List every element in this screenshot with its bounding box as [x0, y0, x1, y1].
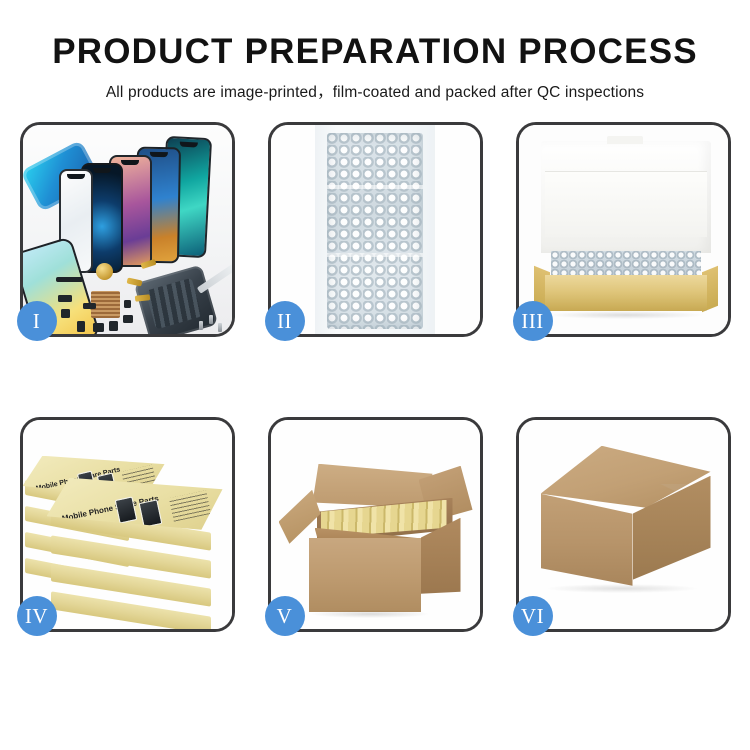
page-title: PRODUCT PREPARATION PROCESS [0, 34, 750, 71]
small-part-icon [77, 321, 85, 332]
carton-flap-left-icon [279, 490, 321, 544]
box-spec-lines [168, 490, 210, 521]
white-box-scene [519, 125, 728, 334]
step-panel-3: III [516, 122, 731, 337]
flex-cable-icon [134, 294, 150, 302]
flex-cable-icon [126, 277, 142, 286]
step-badge-6: VI [513, 596, 553, 636]
small-part-icon [123, 315, 133, 323]
screw-icon [218, 323, 222, 332]
step-panel-5: V [268, 417, 483, 632]
small-part-icon [124, 300, 131, 308]
process-steps-grid: I II II [19, 122, 731, 632]
step-5-image [271, 420, 480, 629]
small-part-icon [61, 309, 70, 318]
carton-shadow [547, 584, 697, 593]
phone-parts-scene [23, 125, 232, 334]
small-part-icon [93, 323, 104, 332]
notch-icon [149, 152, 167, 157]
step-panel-4: Mobile Phone Spare Parts Mobile Phone Sp… [20, 417, 235, 632]
page-subtitle: All products are image-printed，film-coat… [0, 80, 750, 102]
notch-icon [179, 141, 197, 147]
wrap-seam [327, 185, 423, 189]
notch-icon [93, 168, 111, 173]
notch-icon [67, 174, 85, 179]
step-panel-1: I [20, 122, 235, 337]
vibration-motor-icon [96, 263, 113, 280]
notch-icon [121, 160, 139, 165]
stacked-boxes-scene: Mobile Phone Spare Parts Mobile Phone Sp… [23, 420, 232, 629]
carton-flap-back-icon [313, 464, 433, 508]
screw-icon [209, 315, 213, 324]
page-header: PRODUCT PREPARATION PROCESS All products… [0, 0, 750, 102]
step-6-image [519, 420, 728, 629]
step-panel-6: VI [516, 417, 731, 632]
step-4-image: Mobile Phone Spare Parts Mobile Phone Sp… [23, 420, 232, 629]
step-badge-3: III [513, 301, 553, 341]
box-base-front [545, 275, 707, 311]
lid-fold-icon [545, 171, 707, 237]
bubble-wrap-scene [271, 125, 480, 334]
step-3-image [519, 125, 728, 334]
bubble-wrap-contents-icon [551, 251, 701, 277]
earpiece-speaker-icon [56, 277, 83, 282]
carton-hand-slot-icon [591, 592, 609, 608]
carton-front-panel [309, 538, 421, 612]
screw-icon [199, 321, 203, 330]
box-thumbnail-icon [138, 499, 162, 527]
small-part-icon [83, 303, 96, 309]
small-part-icon [58, 295, 72, 302]
small-part-icon [109, 321, 118, 331]
step-badge-1: I [17, 301, 57, 341]
wrap-seam [327, 253, 423, 257]
step-2-image [271, 125, 480, 334]
bubble-wrap-icon [327, 133, 423, 329]
step-badge-5: V [265, 596, 305, 636]
box-shadow [549, 311, 703, 319]
carton-shadow [311, 610, 429, 618]
step-panel-2: II [268, 122, 483, 337]
sealed-carton-scene [519, 420, 728, 629]
step-badge-2: II [265, 301, 305, 341]
step-badge-4: IV [17, 596, 57, 636]
open-carton-scene [271, 420, 480, 629]
step-1-image [23, 125, 232, 334]
lid-tab-icon [607, 136, 643, 144]
